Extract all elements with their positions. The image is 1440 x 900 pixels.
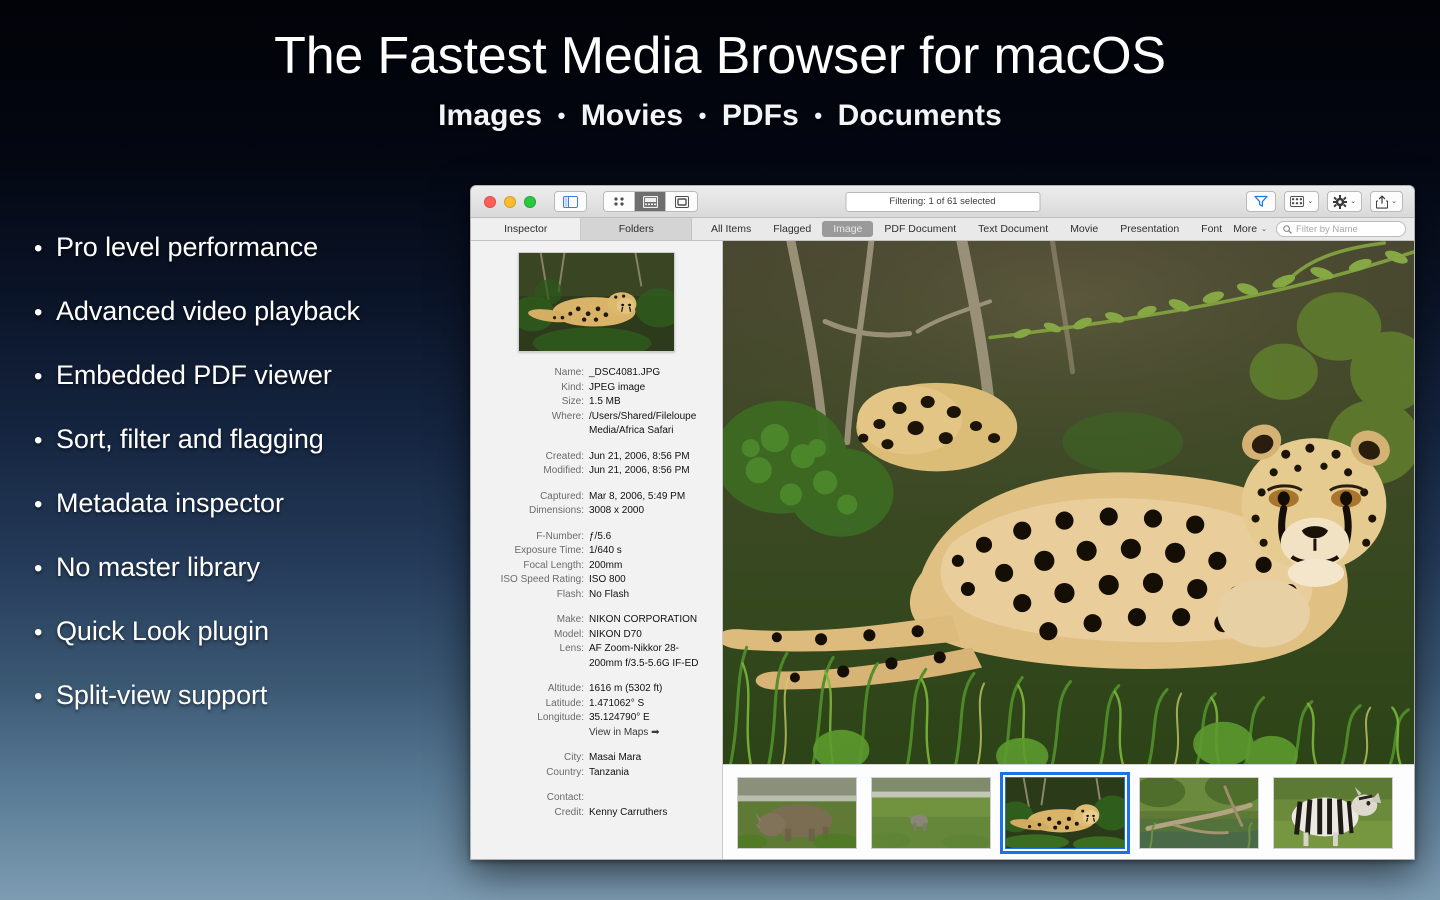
gear-icon[interactable]: ⌄	[1327, 191, 1362, 212]
feature-label: No master library	[56, 552, 260, 583]
list-item[interactable]	[1005, 777, 1125, 849]
filter-tab-text-document[interactable]: Text Document	[967, 221, 1059, 237]
traffic-light-group	[479, 196, 536, 208]
metadata-value: No Flash	[589, 588, 716, 603]
subtitle-separator-icon: •	[807, 103, 829, 128]
app-window: Filtering: 1 of 61 selected ⌄ ⌄	[470, 185, 1415, 860]
table-row: Lens: AF Zoom-Nikkor 28-200mm f/3.5-5.6G…	[471, 642, 716, 671]
feature-label: Advanced video playback	[56, 296, 360, 327]
table-row: Focal Length: 200mm	[471, 559, 716, 574]
content-pane	[723, 241, 1414, 860]
metadata-value: 1.5 MB	[589, 395, 716, 410]
metadata-key: Credit:	[471, 806, 589, 821]
table-row: Size: 1.5 MB	[471, 395, 716, 410]
tab-folders[interactable]: Folders	[581, 218, 690, 240]
list-view-icon[interactable]	[635, 192, 666, 211]
search-placeholder: Filter by Name	[1296, 224, 1358, 235]
metadata-group-dates: Created: Jun 21, 2006, 8:56 PM Modified:…	[471, 450, 716, 479]
subtitle-part-documents: Documents	[838, 99, 1002, 132]
grid-arrange-icon[interactable]: ⌄	[1284, 191, 1319, 212]
single-view-icon[interactable]	[666, 192, 697, 211]
metadata-key: Created:	[471, 450, 589, 465]
subtitle-separator-icon: •	[551, 103, 573, 128]
metadata-value: 1616 m (5302 ft)	[589, 682, 716, 697]
subtitle-separator-icon: •	[692, 103, 714, 128]
minimize-window-button[interactable]	[504, 196, 516, 208]
thumbnail-filmstrip[interactable]	[723, 764, 1414, 860]
metadata-key: Model:	[471, 628, 589, 643]
list-item: • Sort, filter and flagging	[34, 424, 464, 488]
metadata-group-location: Altitude: 1616 m (5302 ft) Latitude: 1.4…	[471, 682, 716, 740]
metadata-key: Latitude:	[471, 697, 589, 712]
view-mode-segmented-control	[603, 191, 698, 212]
search-input[interactable]: Filter by Name	[1276, 221, 1406, 237]
filter-bar-right: More ⌄ Filter by Name	[1233, 221, 1406, 237]
feature-label: Metadata inspector	[56, 488, 284, 519]
metadata-value: JPEG image	[589, 381, 716, 396]
metadata-value: 35.124790° E	[589, 711, 716, 726]
zoom-window-button[interactable]	[524, 196, 536, 208]
sidebar-panel-icon[interactable]	[555, 192, 586, 211]
page-title: The Fastest Media Browser for macOS	[0, 30, 1440, 82]
feature-label: Pro level performance	[56, 232, 318, 263]
filter-funnel-icon[interactable]	[1246, 191, 1276, 212]
close-window-button[interactable]	[484, 196, 496, 208]
table-row: Exposure Time: 1/640 s	[471, 544, 716, 559]
list-item: • Pro level performance	[34, 232, 464, 296]
metadata-key: Size:	[471, 395, 589, 410]
metadata-key: Captured:	[471, 490, 589, 505]
filter-tab-flagged[interactable]: Flagged	[762, 221, 822, 237]
metadata-key: City:	[471, 751, 589, 766]
window-body: Name: _DSC4081.JPG Kind: JPEG image Size…	[471, 241, 1414, 860]
metadata-group-capture: Captured: Mar 8, 2006, 5:49 PM Dimension…	[471, 490, 716, 519]
metadata-key: ISO Speed Rating:	[471, 573, 589, 588]
metadata-value: Kenny Carruthers	[589, 806, 716, 821]
table-row: Where: /Users/Shared/Fileloupe Media/Afr…	[471, 410, 716, 439]
filter-tab-presentation[interactable]: Presentation	[1109, 221, 1190, 237]
table-row: Make: NIKON CORPORATION	[471, 613, 716, 628]
metadata-key: Exposure Time:	[471, 544, 589, 559]
sidebar-tab-group: Inspector Folders	[471, 218, 692, 240]
list-item[interactable]	[1139, 777, 1259, 849]
metadata-key: F-Number:	[471, 530, 589, 545]
table-row: Country: Tanzania	[471, 766, 716, 781]
table-row: Created: Jun 21, 2006, 8:56 PM	[471, 450, 716, 465]
filter-tab-pdf-document[interactable]: PDF Document	[873, 221, 967, 237]
metadata-value: NIKON CORPORATION	[589, 613, 716, 628]
metadata-value: 1.471062° S	[589, 697, 716, 712]
metadata-key: Modified:	[471, 464, 589, 479]
metadata-key: Flash:	[471, 588, 589, 603]
metadata-value: Tanzania	[589, 766, 716, 781]
metadata-key: Lens:	[471, 642, 589, 671]
table-row: Latitude: 1.471062° S	[471, 697, 716, 712]
tab-inspector[interactable]: Inspector	[471, 218, 581, 240]
metadata-key	[471, 726, 589, 741]
hero-section: The Fastest Media Browser for macOS Imag…	[0, 0, 1440, 133]
metadata-value: Jun 21, 2006, 8:56 PM	[589, 464, 716, 479]
metadata-value: Masai Mara	[589, 751, 716, 766]
list-item[interactable]	[1273, 777, 1393, 849]
subtitle-part-pdfs: PDFs	[722, 99, 799, 132]
metadata-key: Longitude:	[471, 711, 589, 726]
image-preview[interactable]	[723, 241, 1414, 764]
table-row: Modified: Jun 21, 2006, 8:56 PM	[471, 464, 716, 479]
table-row: Name: _DSC4081.JPG	[471, 366, 716, 381]
metadata-key: Altitude:	[471, 682, 589, 697]
list-item[interactable]	[737, 777, 857, 849]
table-row: Contact:	[471, 791, 716, 806]
titlebar-actions: ⌄ ⌄ ⌄	[1246, 191, 1406, 212]
metadata-group-contact: Contact: Credit: Kenny Carruthers	[471, 791, 716, 820]
table-row: Dimensions: 3008 x 2000	[471, 504, 716, 519]
sidebar-toggle-group	[554, 191, 587, 212]
metadata-group-exposure: F-Number: ƒ/5.6 Exposure Time: 1/640 s F…	[471, 530, 716, 603]
status-badge: Filtering: 1 of 61 selected	[845, 192, 1040, 212]
metadata-value: Mar 8, 2006, 5:49 PM	[589, 490, 716, 505]
metadata-group-camera: Make: NIKON CORPORATION Model: NIKON D70…	[471, 613, 716, 671]
metadata-group-file: Name: _DSC4081.JPG Kind: JPEG image Size…	[471, 366, 716, 439]
metadata-value: ƒ/5.6	[589, 530, 716, 545]
table-row: Model: NIKON D70	[471, 628, 716, 643]
filter-tab-movie[interactable]: Movie	[1059, 221, 1109, 237]
metadata-value: Jun 21, 2006, 8:56 PM	[589, 450, 716, 465]
metadata-key: Kind:	[471, 381, 589, 396]
secondary-toolbar: Inspector Folders All Items Flagged Imag…	[471, 218, 1414, 241]
metadata-value: AF Zoom-Nikkor 28-200mm f/3.5-5.6G IF-ED	[589, 642, 716, 671]
feature-label: Sort, filter and flagging	[56, 424, 324, 455]
inspector-thumbnail[interactable]	[518, 252, 675, 352]
table-row: Altitude: 1616 m (5302 ft)	[471, 682, 716, 697]
table-row: ISO Speed Rating: ISO 800	[471, 573, 716, 588]
filter-tab-font[interactable]: Font	[1190, 221, 1233, 237]
chevron-down-icon[interactable]: ⌄	[1307, 198, 1313, 205]
subtitle-part-images: Images	[438, 99, 542, 132]
more-dropdown-label: More	[1233, 223, 1257, 235]
metadata-value: ISO 800	[589, 573, 716, 588]
table-row: Longitude: 35.124790° E	[471, 711, 716, 726]
table-row: View in Maps ➡	[471, 726, 716, 741]
metadata-key: Contact:	[471, 791, 589, 806]
feature-label: Embedded PDF viewer	[56, 360, 332, 391]
bullet-icon: •	[34, 557, 56, 581]
share-icon[interactable]: ⌄	[1370, 191, 1403, 212]
subtitle-part-movies: Movies	[581, 99, 683, 132]
list-item: • Embedded PDF viewer	[34, 360, 464, 424]
table-row: Flash: No Flash	[471, 588, 716, 603]
filter-tab-all-items[interactable]: All Items	[700, 221, 762, 237]
filter-tab-image[interactable]: Image	[822, 221, 873, 237]
list-item: • Quick Look plugin	[34, 616, 464, 680]
metadata-value: 1/640 s	[589, 544, 716, 559]
inspector-thumbnail-wrap	[471, 252, 722, 352]
metadata-key: Dimensions:	[471, 504, 589, 519]
list-item: • Advanced video playback	[34, 296, 464, 360]
metadata-key: Focal Length:	[471, 559, 589, 574]
metadata-list: Name: _DSC4081.JPG Kind: JPEG image Size…	[471, 366, 722, 820]
table-row: City: Masai Mara	[471, 751, 716, 766]
more-dropdown[interactable]: More ⌄	[1233, 223, 1267, 235]
metadata-key: Make:	[471, 613, 589, 628]
metadata-value: /Users/Shared/Fileloupe Media/Africa Saf…	[589, 410, 716, 439]
metadata-value: NIKON D70	[589, 628, 716, 643]
filter-tab-bar: All Items Flagged Image PDF Document Tex…	[692, 218, 1414, 240]
list-item: • Metadata inspector	[34, 488, 464, 552]
metadata-value	[589, 791, 716, 806]
bullet-icon: •	[34, 685, 56, 709]
chevron-down-icon[interactable]: ⌄	[1350, 198, 1356, 205]
list-item: • Split-view support	[34, 680, 464, 744]
feature-label: Split-view support	[56, 680, 267, 711]
metadata-group-place: City: Masai Mara Country: Tanzania	[471, 751, 716, 780]
chevron-down-icon: ⌄	[1261, 226, 1267, 233]
metadata-key: Where:	[471, 410, 589, 439]
table-row: Captured: Mar 8, 2006, 5:49 PM	[471, 490, 716, 505]
search-icon	[1283, 225, 1292, 234]
bullet-icon: •	[34, 237, 56, 261]
hero-subtitle: Images • Movies • PDFs • Documents	[0, 99, 1440, 133]
list-item: • No master library	[34, 552, 464, 616]
table-row: F-Number: ƒ/5.6	[471, 530, 716, 545]
inspector-pane: Name: _DSC4081.JPG Kind: JPEG image Size…	[471, 241, 723, 860]
grid-view-icon[interactable]	[604, 192, 635, 211]
window-titlebar: Filtering: 1 of 61 selected ⌄ ⌄	[471, 186, 1414, 218]
chevron-down-icon[interactable]: ⌄	[1391, 198, 1397, 205]
metadata-key: Name:	[471, 366, 589, 381]
feature-label: Quick Look plugin	[56, 616, 269, 647]
table-row: Kind: JPEG image	[471, 381, 716, 396]
metadata-value: 200mm	[589, 559, 716, 574]
bullet-icon: •	[34, 301, 56, 325]
metadata-value: _DSC4081.JPG	[589, 366, 716, 381]
bullet-icon: •	[34, 365, 56, 389]
table-row: Credit: Kenny Carruthers	[471, 806, 716, 821]
bullet-icon: •	[34, 621, 56, 645]
list-item[interactable]	[871, 777, 991, 849]
feature-list: • Pro level performance • Advanced video…	[34, 232, 464, 744]
bullet-icon: •	[34, 493, 56, 517]
metadata-key: Country:	[471, 766, 589, 781]
bullet-icon: •	[34, 429, 56, 453]
metadata-value: 3008 x 2000	[589, 504, 716, 519]
view-in-maps-link[interactable]: View in Maps ➡	[589, 726, 716, 741]
